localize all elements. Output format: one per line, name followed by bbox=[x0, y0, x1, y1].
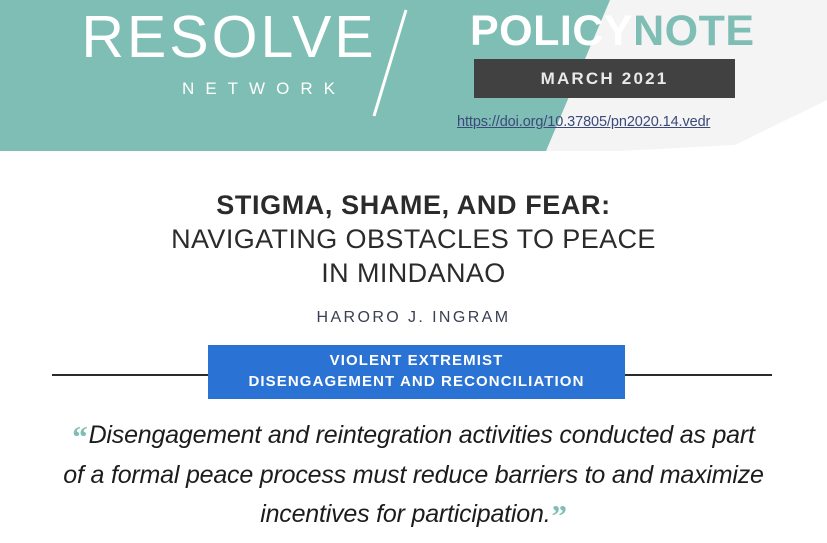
author-name: HARORO J. INGRAM bbox=[0, 309, 827, 327]
policy-note-cover: RESOLVE NETWORK POLICYNOTE MARCH 2021 ht… bbox=[0, 0, 827, 543]
open-quote-icon: “ bbox=[72, 419, 87, 454]
logo-subtitle: NETWORK bbox=[64, 79, 394, 99]
series-badge-line-1: VIOLENT EXTREMIST bbox=[330, 351, 504, 372]
series-kicker: POLICYNOTE bbox=[470, 10, 755, 53]
doi-link[interactable]: https://doi.org/10.37805/pn2020.14.vedr bbox=[457, 114, 710, 130]
series-badge: VIOLENT EXTREMIST DISENGAGEMENT AND RECO… bbox=[208, 345, 625, 399]
pull-quote-text-2: of a formal peace process must reduce ba… bbox=[63, 461, 763, 489]
page-title-line-2: NAVIGATING OBSTACLES TO PEACE bbox=[0, 222, 827, 256]
diagonal-slash-icon bbox=[362, 8, 422, 118]
document-header: RESOLVE NETWORK POLICYNOTE MARCH 2021 ht… bbox=[0, 0, 827, 167]
pull-quote-text-1: Disengagement and reintegration activiti… bbox=[89, 421, 755, 449]
series-kicker-policy: POLICY bbox=[470, 7, 633, 55]
pull-quote-line-1: “Disengagement and reintegration activit… bbox=[56, 416, 771, 456]
page-title: STIGMA, SHAME, AND FEAR: NAVIGATING OBST… bbox=[0, 188, 827, 290]
logo-wordmark: RESOLVE bbox=[64, 8, 394, 67]
page-title-line-1: STIGMA, SHAME, AND FEAR: bbox=[0, 188, 827, 222]
series-kicker-note: NOTE bbox=[633, 7, 754, 55]
publication-date-chip: MARCH 2021 bbox=[474, 59, 735, 98]
pull-quote-line-3: incentives for participation.” bbox=[56, 495, 771, 535]
pull-quote: “Disengagement and reintegration activit… bbox=[56, 416, 771, 535]
series-badge-line-2: DISENGAGEMENT AND RECONCILIATION bbox=[248, 372, 584, 393]
pull-quote-line-2: of a formal peace process must reduce ba… bbox=[56, 456, 771, 496]
publication-date-label: MARCH 2021 bbox=[541, 69, 669, 89]
pull-quote-text-3: incentives for participation. bbox=[260, 500, 550, 528]
close-quote-icon: ” bbox=[551, 498, 566, 533]
resolve-logo: RESOLVE NETWORK bbox=[64, 8, 394, 99]
page-title-line-3: IN MINDANAO bbox=[0, 256, 827, 290]
